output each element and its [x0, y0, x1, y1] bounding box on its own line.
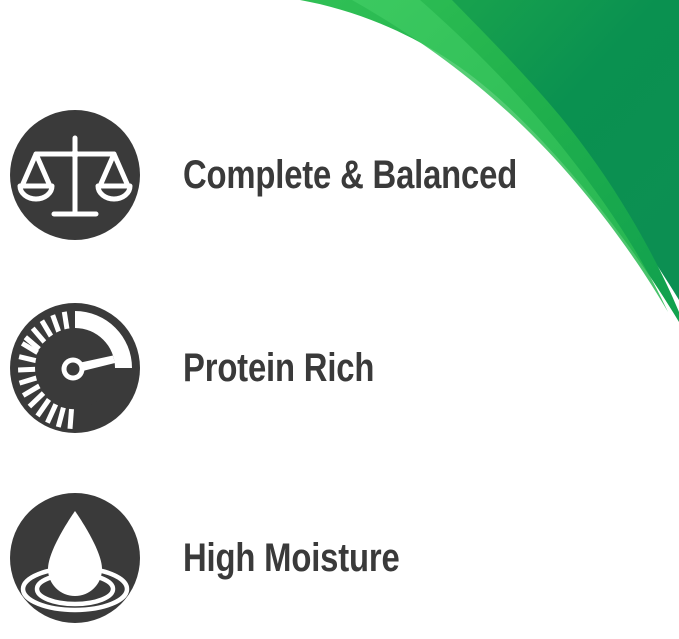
feature-row: High Moisture — [0, 488, 679, 628]
feature-highlights-panel: Complete & Balanced — [0, 0, 679, 639]
feature-row: Complete & Balanced — [0, 105, 679, 245]
feature-row: Protein Rich — [0, 298, 679, 438]
feature-label-complete-and-balanced: Complete & Balanced — [183, 155, 590, 195]
feature-label-protein-rich: Protein Rich — [183, 348, 590, 388]
feature-label-high-moisture: High Moisture — [183, 538, 590, 578]
balance-scale-badge — [10, 110, 140, 240]
gauge-badge — [10, 303, 140, 433]
water-droplet-badge — [10, 493, 140, 623]
